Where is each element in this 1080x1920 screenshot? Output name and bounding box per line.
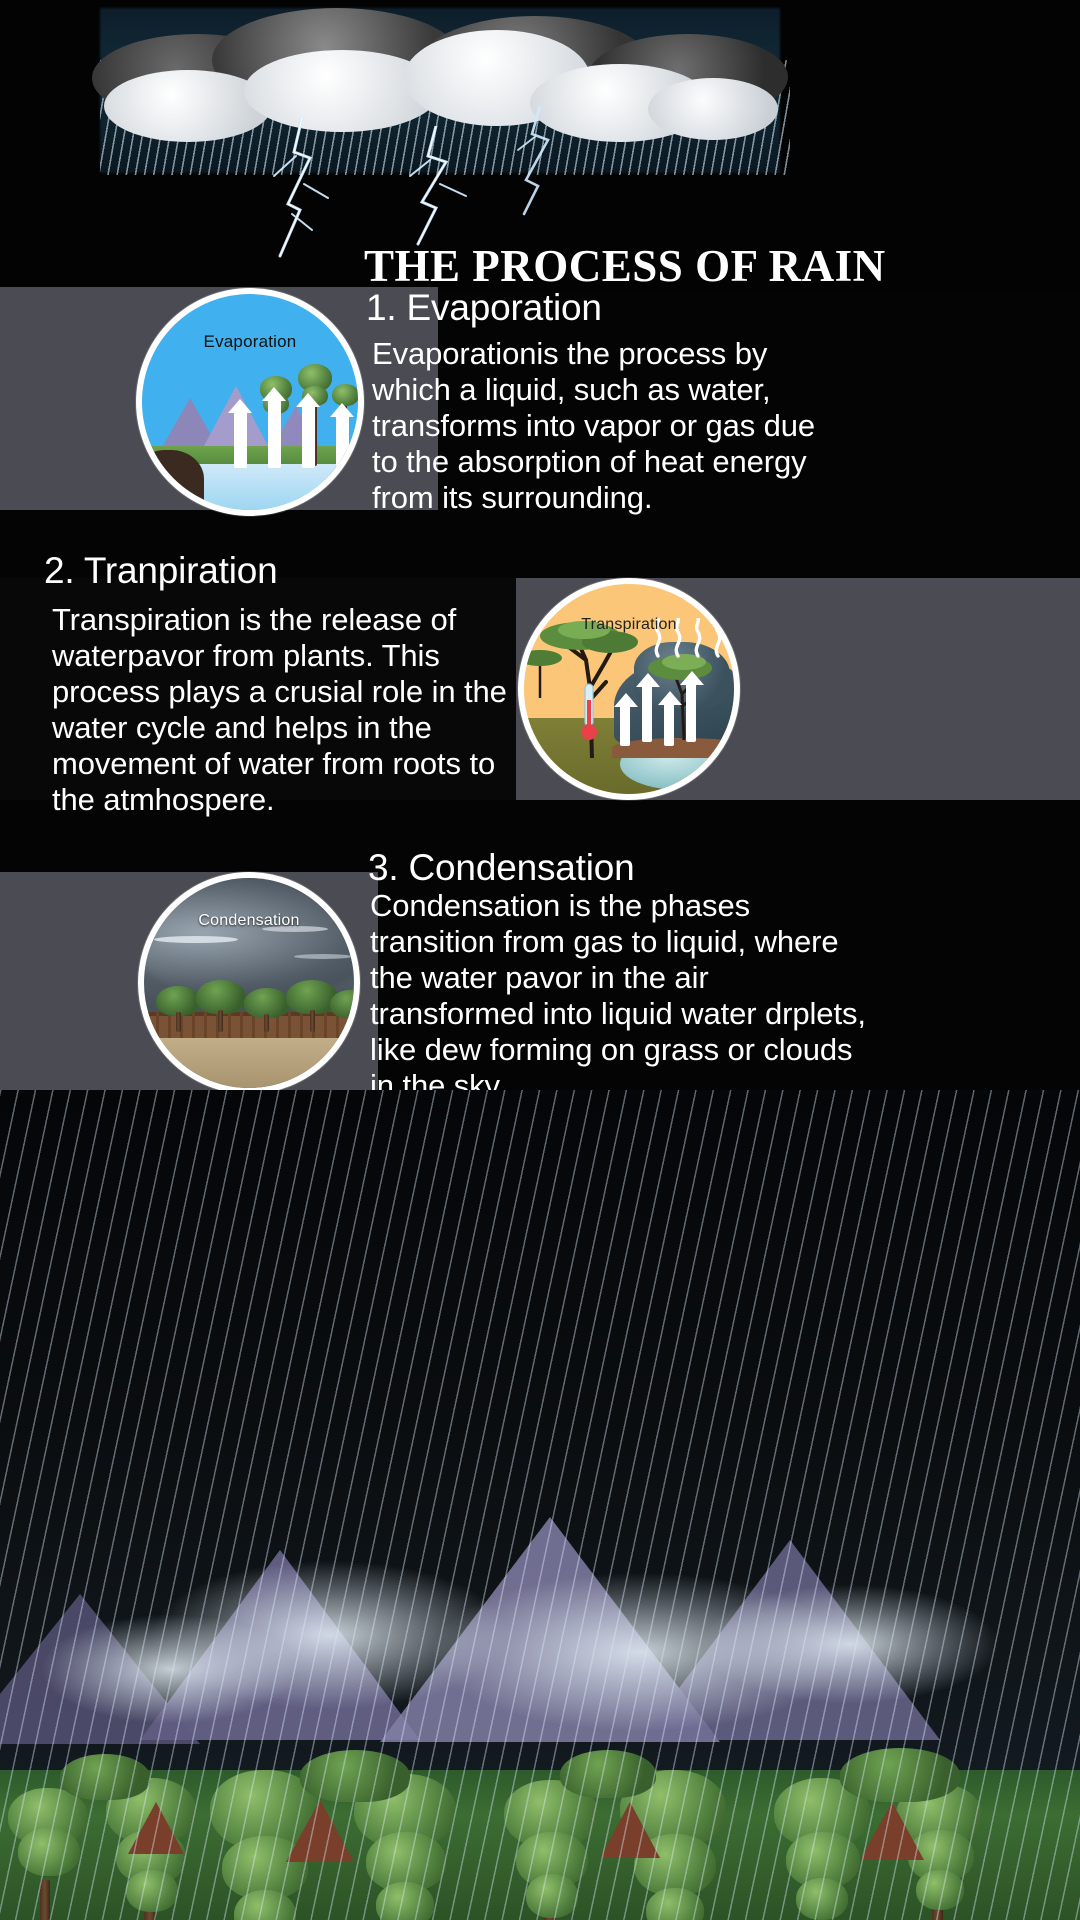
transpiration-arrow-icon [642, 684, 652, 742]
condensation-circle-label: Condensation [144, 912, 354, 930]
thermometer-icon [580, 682, 598, 744]
condensation-illustration: Condensation [138, 872, 360, 1094]
evaporation-arrow-icon [234, 410, 247, 468]
transpiration-arrow-icon [686, 682, 696, 742]
transpiration-illustration: Transpiration [518, 578, 740, 800]
section-1-heading: 1. Evaporation [366, 287, 602, 329]
tree-trunk [176, 1012, 181, 1032]
evaporation-illustration: Evaporation [136, 288, 364, 516]
cloud-white [648, 78, 778, 140]
section-2-body: Transpiration is the release of waterpav… [52, 602, 512, 818]
evaporation-arrow-icon [336, 414, 349, 468]
lightning-bolt-icon [258, 118, 368, 258]
section-3-body: Condensation is the phases transition fr… [370, 888, 870, 1104]
tree-trunk [218, 1010, 223, 1032]
cloud-wisp [294, 954, 352, 959]
tree-trunk [264, 1014, 269, 1032]
cloud-wisp [154, 936, 238, 943]
evaporation-arrow-icon [302, 404, 315, 468]
section-3-heading: 3. Condensation [368, 847, 634, 889]
tree-canopy [196, 980, 246, 1014]
rain-overlay [0, 1090, 1080, 1920]
rock-foreground [138, 450, 204, 508]
tree-trunk [310, 1010, 315, 1032]
acacia-tree-small [518, 640, 568, 700]
transpiration-arrow-icon [620, 704, 630, 746]
evaporation-circle-label: Evaporation [142, 332, 358, 352]
tree-canopy [330, 990, 360, 1018]
section-2-heading: 2. Tranpiration [44, 550, 278, 592]
transpiration-circle-label: Transpiration [524, 616, 734, 634]
storm-cloud-mass [138, 872, 360, 998]
transpiration-arrow-icon [664, 702, 674, 746]
section-1-body: Evaporationis the process by which a liq… [372, 336, 830, 516]
lightning-bolt-icon [500, 106, 590, 216]
lightning-bolt-icon [388, 126, 498, 246]
page-title: THE PROCESS OF RAIN [364, 240, 886, 292]
infographic-poster: THE PROCESS OF RAIN 1. Evaporation Evapo… [0, 0, 1080, 1920]
forest-footer-illustration [0, 1090, 1080, 1920]
evaporation-arrow-icon [268, 398, 281, 468]
